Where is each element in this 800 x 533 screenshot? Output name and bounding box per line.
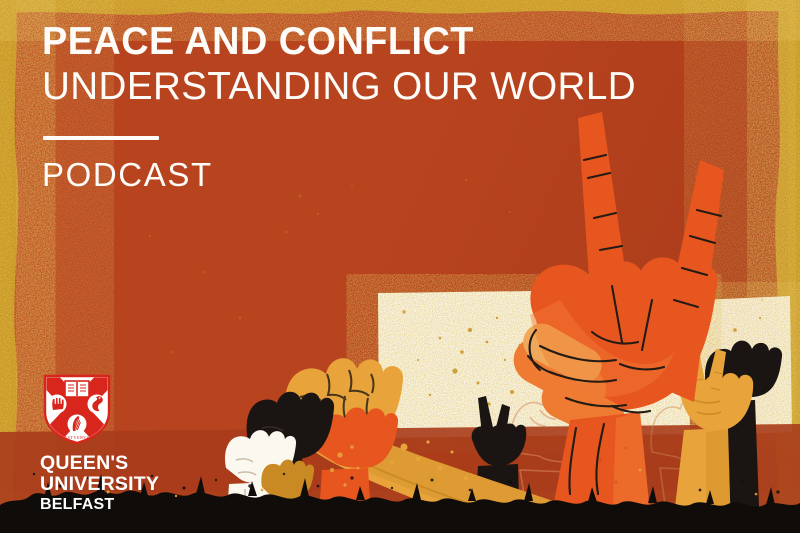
title-block: PEACE AND CONFLICT UNDERSTANDING OUR WOR… — [42, 22, 642, 192]
page-subtitle: PODCAST — [42, 158, 642, 192]
queens-university-belfast-logo: ESTVERVS QUEEN'S UNIVERSITY BELFAST — [40, 372, 159, 514]
crest-motto: ESTVERVS — [64, 435, 89, 440]
logo-wordmark: QUEEN'S UNIVERSITY BELFAST — [40, 454, 159, 514]
crest-icon: ESTVERVS — [40, 372, 114, 446]
podcast-poster: PEACE AND CONFLICT UNDERSTANDING OUR WOR… — [0, 0, 800, 533]
page-title-line2: UNDERSTANDING OUR WORLD — [42, 64, 636, 110]
logo-line-university: UNIVERSITY — [40, 474, 159, 495]
page-title-line1: PEACE AND CONFLICT — [42, 22, 624, 62]
logo-line-belfast: BELFAST — [40, 495, 159, 514]
logo-line-queens: QUEEN'S — [40, 454, 159, 474]
title-divider — [43, 136, 159, 140]
